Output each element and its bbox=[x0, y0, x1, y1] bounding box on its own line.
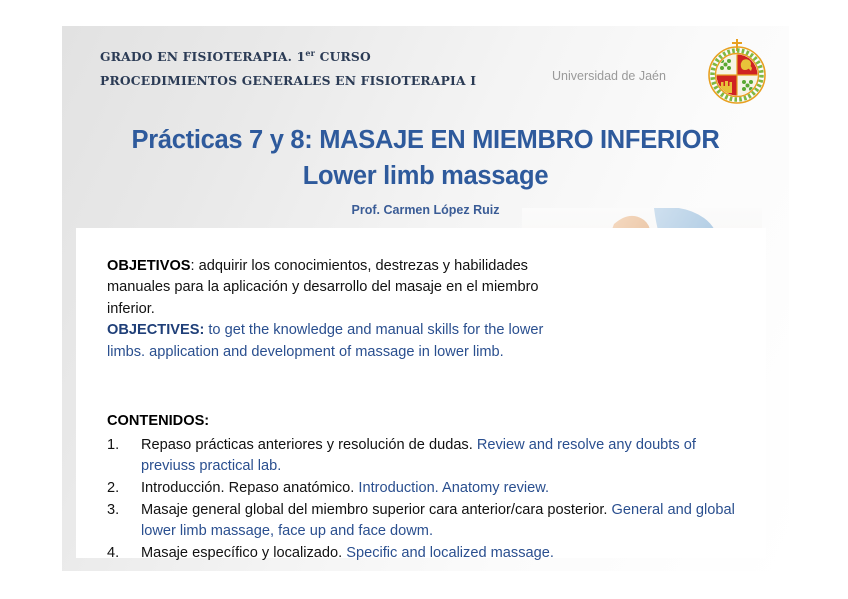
list-item: 3. Masaje general global del miembro sup… bbox=[107, 500, 747, 542]
content-panel: OBJETIVOS: adquirir los conocimientos, d… bbox=[76, 228, 766, 558]
list-item: 2. Introducción. Repaso anatómico. Intro… bbox=[107, 478, 747, 499]
university-name: Universidad de Jaén bbox=[552, 69, 666, 83]
course-line-2: PROCEDIMIENTOS GENERALES EN FISIOTERAPIA… bbox=[100, 69, 476, 93]
list-item-text-es: Masaje específico y localizado. bbox=[141, 545, 346, 561]
objectives-label-en: OBJECTIVES: bbox=[107, 322, 204, 338]
objectives-block: OBJETIVOS: adquirir los conocimientos, d… bbox=[107, 256, 547, 363]
course-line-1-ordinal: er bbox=[305, 48, 315, 58]
list-item-text-es: Repaso prácticas anteriores y resolución… bbox=[141, 437, 477, 453]
list-item-text: Masaje específico y localizado. Specific… bbox=[141, 543, 747, 564]
list-item-text: Introducción. Repaso anatómico. Introduc… bbox=[141, 478, 747, 499]
list-item-text-es: Introducción. Repaso anatómico. bbox=[141, 480, 358, 496]
list-item-number: 3. bbox=[107, 500, 141, 542]
slide-viewer: GRADO EN FISIOTERAPIA. 1er CURSO PROCEDI… bbox=[0, 0, 848, 599]
list-item-number: 2. bbox=[107, 478, 141, 499]
slide-title-english: Lower limb massage bbox=[62, 162, 789, 191]
list-item-number: 1. bbox=[107, 435, 141, 477]
list-item-text-en: Introduction. Anatomy review. bbox=[358, 480, 549, 496]
list-item-text-es: Masaje general global del miembro superi… bbox=[141, 502, 611, 518]
list-item-text: Masaje general global del miembro superi… bbox=[141, 500, 747, 542]
list-item: 1. Repaso prácticas anteriores y resoluc… bbox=[107, 435, 747, 477]
slide: GRADO EN FISIOTERAPIA. 1er CURSO PROCEDI… bbox=[62, 26, 789, 571]
list-item: 4. Masaje específico y localizado. Speci… bbox=[107, 543, 747, 564]
course-line-1-b: CURSO bbox=[315, 49, 371, 64]
list-item-number: 4. bbox=[107, 543, 141, 564]
list-item-text-en: Specific and localized massage. bbox=[346, 545, 554, 561]
contents-list: 1. Repaso prácticas anteriores y resoluc… bbox=[107, 435, 747, 565]
contents-heading: CONTENIDOS: bbox=[107, 413, 209, 429]
course-line-1-a: GRADO EN FISIOTERAPIA. 1 bbox=[100, 49, 305, 64]
slide-header: GRADO EN FISIOTERAPIA. 1er CURSO PROCEDI… bbox=[62, 26, 789, 112]
objectives-label-es: OBJETIVOS bbox=[107, 258, 191, 274]
course-heading: GRADO EN FISIOTERAPIA. 1er CURSO PROCEDI… bbox=[100, 45, 476, 93]
university-of-jaen-crest-icon bbox=[705, 37, 769, 107]
course-line-1: GRADO EN FISIOTERAPIA. 1er CURSO bbox=[100, 45, 476, 69]
slide-title-spanish: Prácticas 7 y 8: MASAJE EN MIEMBRO INFER… bbox=[62, 126, 789, 155]
list-item-text: Repaso prácticas anteriores y resolución… bbox=[141, 435, 747, 477]
